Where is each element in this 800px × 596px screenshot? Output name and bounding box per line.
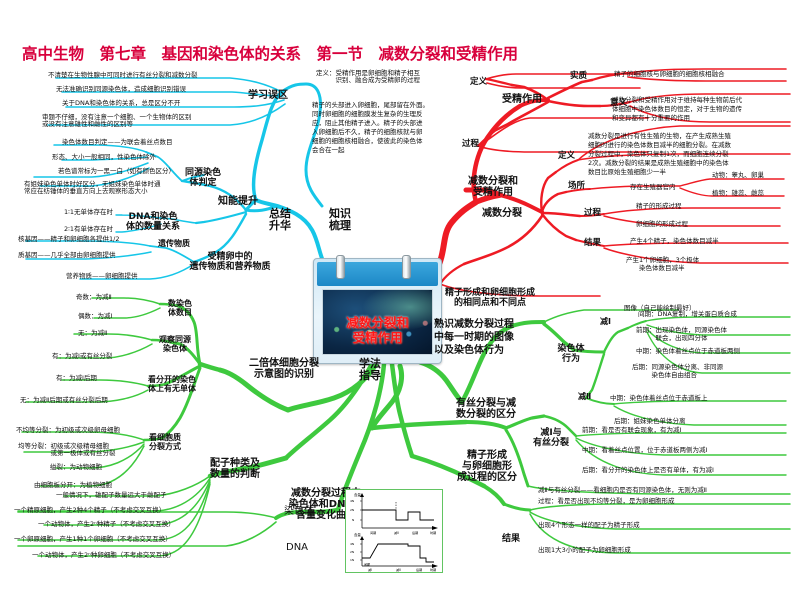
- chart2-xtick-1: 减Ⅰ: [368, 567, 372, 572]
- leaf-red-dingyi2: 减数分裂是进行有性生殖的生物，在产生成熟生殖 细胞时进行的染色体数目减半的细胞分…: [588, 132, 731, 177]
- leaf-red-shizhi: 精子的细胞核与卵细胞的细胞核相融合: [614, 71, 725, 78]
- central-topic-card[interactable]: 减数分裂和 受精作用: [313, 258, 442, 364]
- chart1-xlabel: 时期: [430, 530, 436, 535]
- leaf-green-l10: 由细胞板分开：为植物细胞: [34, 482, 112, 489]
- binder-ring-right-icon: [402, 255, 411, 279]
- leaf-cyan-3: 关于DNA和染色体的关系，总是区分不开: [62, 100, 180, 107]
- sublabel-dingyi-shoujing[interactable]: 定义: [470, 78, 487, 88]
- leaf-green-j1-4: 后期：同源染色体分离、非同源 染色体自由组合: [632, 363, 723, 380]
- chart2-ytick-1n: 1N: [350, 558, 354, 562]
- node-jieguo-green[interactable]: 结果: [502, 534, 520, 544]
- leaf-red-guocheng-1: 精子的形成过程: [636, 203, 682, 210]
- chart1-xtick-1: 间期: [370, 530, 376, 535]
- node-yousi-jianshu-qufen[interactable]: 有丝分裂与减数分裂的区分: [436, 398, 536, 420]
- leaf-cyan-13: 营养物质——卵细胞提供: [66, 273, 138, 280]
- node-jianshu-fenlie[interactable]: 减数分裂: [482, 208, 522, 219]
- chart1-ytick-4n: 4N: [350, 499, 354, 503]
- node-guancha-tongyuan[interactable]: 观察同源染色体: [152, 336, 198, 354]
- leaf-cyan-12: 质基因——几乎全部由卵细胞提供: [18, 252, 116, 259]
- node-xuexi-wuqu[interactable]: 学习误区: [248, 90, 288, 101]
- sublabel-shizhi[interactable]: 实质: [570, 72, 587, 82]
- leaf-green-q2: 中期：看着丝点位置，位于赤道板两侧为减Ⅰ: [582, 447, 707, 454]
- leaf-green-r1: 过程：看是否出现不均等分裂，是为卵细胞形成: [538, 498, 675, 505]
- node-shushi-jianshu-tuxiang[interactable]: 熟识减数分裂过程中每一时期的图像以及染色体行为: [434, 318, 514, 357]
- leaf-green-l3: 无：为减Ⅱ: [78, 330, 107, 337]
- leaf-green-j2-1: 中期：染色体着丝点位于赤道板上: [610, 395, 708, 402]
- leaf-green-dna: DNA: [286, 542, 308, 553]
- leaf-cyan-10: 2∶1有单体存在时: [64, 226, 113, 233]
- content-change-charts: 含量 4N 2N N 间期 减Ⅱ 后期 时期 含量 4N 2N 1N 间期 减Ⅰ: [346, 490, 442, 572]
- leaf-red-guocheng-2: 卵细胞的形成过程: [636, 221, 688, 228]
- chart2-xtick-0: 间期: [364, 562, 370, 567]
- leaf-green-j1-1: 间期：DNA复制，增关蛋白质合成: [638, 311, 737, 318]
- leaf-cyan-7: 若色谱常标为一黑一白（如有颜色区分）: [58, 168, 175, 175]
- leaf-red-changsuo: 存在生殖器官内: [630, 184, 676, 191]
- leaf-cyan-9: 1∶1无单体存在时: [64, 209, 113, 216]
- leaf-green-p2: 一个精原细胞，产生2种4个精子（不考虑交叉互换）: [14, 507, 165, 514]
- chart1-ylabel: 含量: [354, 492, 361, 497]
- leaf-green-q3: 后期：看分开的染色体上是否有单体，有为减Ⅰ: [582, 467, 714, 474]
- node-xibaozhi-fenlie[interactable]: 看细胞质分裂方式: [142, 434, 188, 452]
- leaf-green-q4: 减Ⅱ与有丝分裂——看细胞内是否有同源染色体，无则为减Ⅱ: [538, 487, 707, 494]
- leaf-red-yiyi: 减数分裂和受精作用对于维持每种生物前后代 体细胞中染色体数目的恒定，对于生物的遗…: [612, 96, 742, 123]
- central-topic-line1: 减数分裂和: [323, 316, 432, 331]
- leaf-green-q1: 前期：看是否有联会现象，有为减Ⅰ: [582, 427, 681, 434]
- chart1-ytick-2n: 2N: [350, 508, 354, 512]
- leaf-red-changsuo-plant: 植物：雄蕊、雌蕊: [712, 190, 764, 197]
- leaf-green-l8: 均等分裂：初级或次级精母细胞 或第一极体或有丝分裂: [18, 443, 116, 458]
- chart2-xlabel: 时期: [430, 567, 436, 572]
- hub-zongjie-shenghua[interactable]: 总结升华: [258, 208, 302, 233]
- chart2-ytick-4n: 4N: [350, 542, 354, 546]
- sublabel-dingyi-jianshu[interactable]: 定义: [558, 152, 575, 162]
- node-yichuan-wuzhi[interactable]: 遗传物质: [158, 240, 190, 249]
- leaf-red-guocheng: 精子的头部进入卵细胞，尾部留在外面。 同时卵细胞的细胞膜发生复杂的生理反 应，阻…: [312, 101, 429, 155]
- leaf-red-dingyi: 定义：受精作用是卵细胞和精子相互 识别、融合成为受精卵的过程: [316, 70, 420, 85]
- leaf-cyan-4: 审题不仔细，没有注意一个细胞、一个生物体的区别 或没有注意雄性和雌性的区别等: [42, 114, 192, 129]
- chart2-ytick-2n: 2N: [350, 550, 354, 554]
- leaf-cyan-5: 染色体数目判定——为联会着丝点数目: [62, 139, 173, 146]
- node-ranseti-xingwei[interactable]: 染色体行为: [548, 344, 594, 364]
- leaf-green-p1: 一般情况下，雄配子数量远大于雌配子: [56, 492, 167, 499]
- leaf-red-jieguo-2: 产生1个卵细胞，3个极体 染色体数目减半: [626, 256, 699, 273]
- chart1-ytick-n: N: [352, 518, 354, 522]
- sublabel-guocheng-jianshu[interactable]: 过程: [584, 209, 601, 219]
- node-red-root-label[interactable]: 减数分裂和受精作用: [456, 176, 530, 198]
- node-shu-ranseti-shumu[interactable]: 数染色体数目: [160, 300, 200, 318]
- node-erbeiti-shiyitu[interactable]: 二倍体细胞分裂示意图的识别: [232, 358, 336, 380]
- leaf-green-p4: 一个卵原细胞，产生1种1个卵细胞（不考虑交叉互换）: [14, 536, 172, 543]
- central-topic-line2: 受精作用: [323, 331, 432, 346]
- leaf-green-j1-3: 中期：染色体着丝点位于赤道板两侧: [636, 348, 740, 355]
- sublabel-jieguo-jianshu[interactable]: 结果: [584, 239, 601, 249]
- leaf-green-l5: 有：为减Ⅰ后期: [56, 375, 97, 382]
- leaf-green-r3: 出现1大3小的配子为卵细胞形成: [538, 547, 631, 554]
- chart2-xtick-3: 后期: [416, 567, 422, 572]
- node-jian1-yousi[interactable]: 减Ⅰ与有丝分裂: [524, 428, 578, 448]
- chart1-xtick-2: 减Ⅱ: [394, 530, 399, 535]
- leaf-green-l2: 偶数：为减Ⅰ: [78, 313, 112, 320]
- leaf-green-p5: 一个动物体，产生2ⁿ种卵细胞（不考虑交叉互换）: [32, 552, 175, 559]
- node-dna-ranseti-shuliang[interactable]: DNA和染色体的数量关系: [122, 212, 184, 232]
- node-jingzi-luanxibao-duibi[interactable]: 精子形成和卵细胞形成的相同点和不同点: [432, 288, 548, 308]
- leaf-cyan-11: 核基因——精子和卵细胞各提供1/2: [18, 236, 119, 243]
- central-topic-title: 减数分裂和 受精作用: [323, 316, 432, 346]
- page-title: 高中生物 第七章 基因和染色体的关系 第一节 减数分裂和受精作用: [22, 46, 518, 63]
- leaf-green-l9: 缢裂：为动物细胞: [50, 464, 102, 471]
- chart1-xtick-3: 后期: [412, 530, 418, 535]
- leaf-green-l1: 奇数：为减Ⅱ: [76, 294, 112, 301]
- content-change-chart-card[interactable]: 含量 4N 2N N 间期 减Ⅱ 后期 时期 含量 4N 2N 1N 间期 减Ⅰ: [345, 489, 443, 573]
- node-tongyuan-ranseti-panding[interactable]: 同源染色体判定: [174, 168, 232, 188]
- dna-chart: [360, 536, 438, 568]
- card-illustration: 减数分裂和 受精作用: [322, 289, 433, 355]
- leaf-green-l6: 无：为减Ⅱ后期或有丝分裂后期: [20, 397, 108, 404]
- leaf-green-l7: 不均等分裂：为初级或次级卵母细胞: [16, 427, 120, 434]
- mindmap-canvas: 高中生物 第七章 基因和染色体的关系 第一节 减数分裂和受精作用 减数分裂和 受…: [0, 0, 800, 596]
- leaf-green-ranseti: 染色体: [284, 506, 314, 517]
- chart2-ylabel: 含量: [354, 532, 361, 537]
- hub-zhishi-shuli[interactable]: 知识梳理: [318, 208, 362, 233]
- leaf-green-j1-2: 前期：出现染色体，同源染色体 联会，出现四分体: [636, 326, 727, 343]
- chromosome-chart: [360, 493, 438, 530]
- sublabel-changsuo[interactable]: 场所: [568, 182, 585, 192]
- node-peizi-zhonglei[interactable]: 配子种类及数量的判断: [194, 458, 276, 480]
- node-zhineng-tisheng[interactable]: 知能提升: [218, 196, 258, 207]
- node-shoujing-zuoyong[interactable]: 受精作用: [502, 94, 542, 105]
- leaf-red-jieguo-1: 产生4个精子，染色体数目减半: [630, 238, 719, 245]
- leaf-green-r2: 出现4个形态一样的配子为精子形成: [538, 522, 640, 529]
- leaf-red-changsuo-animal: 动物：睾丸、卵巢: [712, 172, 764, 179]
- sublabel-jian2[interactable]: 减Ⅱ: [578, 393, 591, 402]
- hub-xuefa-zhidao[interactable]: 学法指导: [348, 358, 392, 383]
- leaf-cyan-8: 有姐妹染色单体时好区分，无姐妹染色单体时通 常应在纺锤体的垂直方向上去观察形态大…: [24, 181, 161, 196]
- sublabel-guocheng-shoujing[interactable]: 过程: [462, 140, 479, 150]
- leaf-green-p3: 一个动物体，产生2ⁿ种精子（不考虑交叉互换）: [38, 521, 175, 528]
- node-shoujingluan-wuzhi[interactable]: 受精卵中的遗传物质和营养物质: [186, 252, 274, 272]
- binder-ring-left-icon: [336, 255, 345, 279]
- leaf-cyan-2: 无法准确识别同源染色体，造成细胞识别错误: [56, 86, 186, 93]
- node-jingzi-luanxibao-qufen[interactable]: 精子形成与卵细胞形成过程的区分: [440, 450, 534, 484]
- leaf-cyan-1: 不清楚在生物性腺中可同时进行有丝分裂和减数分裂: [48, 72, 198, 79]
- chart2-xtick-2: 减Ⅱ: [396, 567, 401, 572]
- leaf-green-j2-2: 后期：姐妹染色单体分离: [614, 418, 686, 425]
- leaf-cyan-6: 形态、大小一般相同，性染色体除外: [52, 154, 156, 161]
- sublabel-jian1[interactable]: 减Ⅰ: [600, 318, 611, 327]
- node-kan-fenkai-danti[interactable]: 看分开的染色体上有无单体: [144, 376, 200, 394]
- leaf-green-l4: 有：为减Ⅰ或有丝分裂: [52, 353, 112, 360]
